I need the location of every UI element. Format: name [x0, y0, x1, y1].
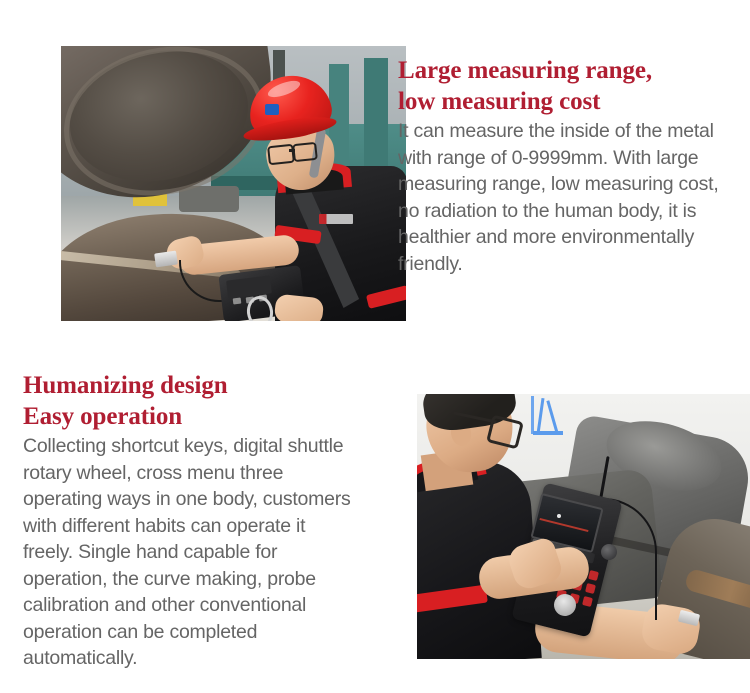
feature-body: Collecting shortcut keys, digital shuttl…	[23, 433, 358, 672]
feature-heading-line-2: low measuring cost	[398, 88, 600, 115]
worker-hand-right	[274, 294, 325, 321]
feature-block-large-measuring-range: Large measuring range, low measuring cos…	[0, 0, 750, 340]
feature-heading: Humanizing design Easy operation	[23, 370, 358, 432]
feature-block-humanizing-design: Humanizing design Easy operation Collect…	[0, 340, 750, 693]
feature-heading-line-1: Large measuring range,	[398, 57, 652, 84]
safety-glasses-left-lens	[267, 144, 295, 166]
safety-glasses-bridge	[289, 149, 295, 152]
device-button-1	[233, 298, 242, 305]
shirt-logo-badge	[319, 214, 353, 224]
feature-body: It can measure the inside of the metal w…	[398, 118, 728, 277]
feature-heading-line-1: Humanizing design	[23, 372, 228, 399]
helmet-logo-icon	[265, 104, 279, 115]
worker-inspecting-pipe-photo	[61, 46, 406, 321]
detector-side-knob	[601, 544, 617, 560]
operator-using-flaw-detector-photo	[417, 394, 750, 659]
feature-heading-line-2: Easy operation	[23, 403, 182, 430]
feature-text-large-measuring-range: Large measuring range, low measuring cos…	[398, 55, 728, 277]
blue-wall-marking-base	[533, 431, 563, 435]
blue-wall-marking-edge	[531, 396, 534, 434]
safety-glasses-right-lens	[292, 142, 318, 162]
detector-screen-cursor	[557, 514, 561, 518]
feature-heading: Large measuring range, low measuring cos…	[398, 55, 728, 117]
feature-text-humanizing-design: Humanizing design Easy operation Collect…	[23, 370, 358, 672]
